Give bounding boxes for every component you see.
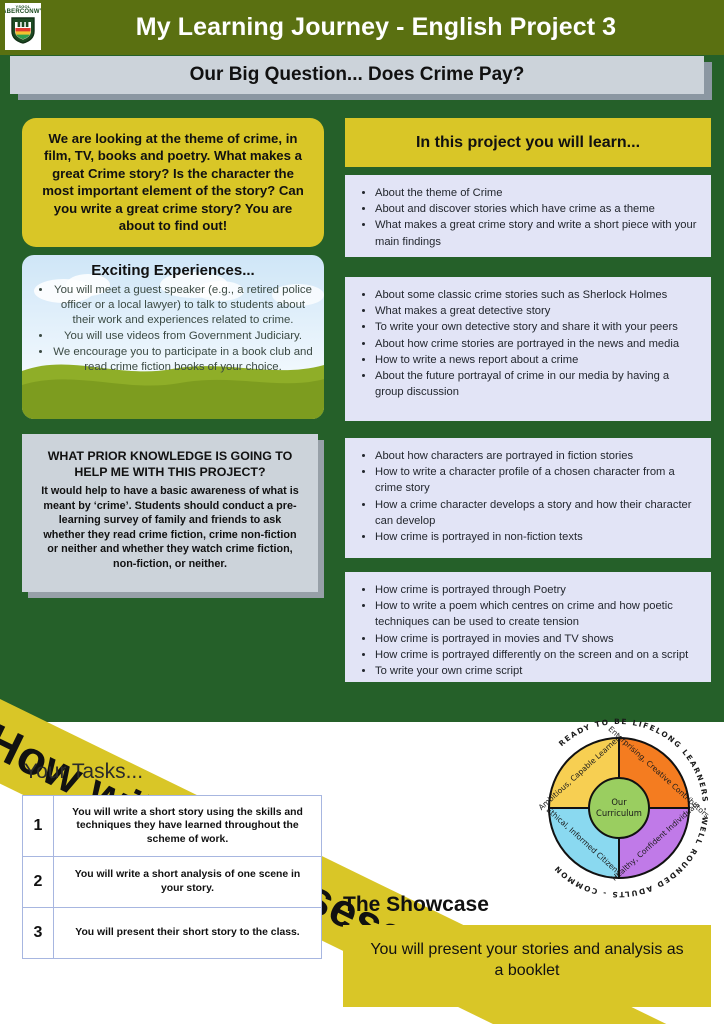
list-item: About and discover stories which have cr…	[375, 201, 699, 217]
page-title: My Learning Journey - English Project 3	[46, 0, 706, 55]
learning-objectives-list: About the theme of Crime About and disco…	[353, 185, 699, 250]
learning-objectives-list: About some classic crime stories such as…	[353, 287, 699, 401]
showcase-text: You will present your stories and analys…	[370, 941, 683, 979]
list-item: You will meet a guest speaker (e.g., a r…	[52, 283, 314, 328]
learning-objectives-group-1: About the theme of Crime About and disco…	[345, 175, 711, 257]
svg-text:Curriculum: Curriculum	[596, 808, 642, 818]
tasks-table: 1 You will write a short story using the…	[22, 795, 322, 959]
svg-text:Our: Our	[611, 797, 627, 807]
task-number: 1	[23, 796, 54, 857]
learning-objectives-list: About how characters are portrayed in fi…	[353, 448, 699, 545]
task-description: You will write a short story using the s…	[54, 796, 322, 857]
list-item: About the future portrayal of crime in o…	[375, 368, 699, 400]
exciting-experiences-list: You will meet a guest speaker (e.g., a r…	[32, 283, 314, 375]
showcase-card: You will present your stories and analys…	[343, 925, 711, 1007]
list-item: How a crime character develops a story a…	[375, 497, 699, 529]
list-item: How to write a poem which centres on cri…	[375, 598, 699, 630]
list-item: How to write a character profile of a ch…	[375, 464, 699, 496]
task-number: 3	[23, 908, 54, 959]
shield-crest-icon	[10, 16, 36, 44]
task-number: 2	[23, 857, 54, 908]
task-description: You will present their short story to th…	[54, 908, 322, 959]
tasks-heading: Your Tasks...	[24, 760, 143, 784]
school-logo: YSGOL ABERCONWY	[5, 3, 41, 50]
list-item: To write your own crime script	[375, 663, 699, 679]
learning-objectives-group-4: How crime is portrayed through Poetry Ho…	[345, 572, 711, 682]
list-item: How crime is portrayed through Poetry	[375, 582, 699, 598]
list-item: About some classic crime stories such as…	[375, 287, 699, 303]
list-item: How crime is portrayed in non-fiction te…	[375, 529, 699, 545]
list-item: How to write a news report about a crime	[375, 352, 699, 368]
learning-objectives-group-2: About some classic crime stories such as…	[345, 277, 711, 421]
learning-objectives-group-3: About how characters are portrayed in fi…	[345, 438, 711, 558]
table-row: 2 You will write a short analysis of one…	[23, 857, 322, 908]
learning-objectives-list: How crime is portrayed through Poetry Ho…	[353, 582, 699, 679]
learning-objectives-header-text: In this project you will learn...	[416, 134, 640, 152]
project-intro-card: We are looking at the theme of crime, in…	[22, 118, 324, 247]
project-intro-text: We are looking at the theme of crime, in…	[36, 130, 310, 235]
big-question-text: Our Big Question... Does Crime Pay?	[190, 64, 525, 86]
list-item: About how characters are portrayed in fi…	[375, 448, 699, 464]
list-item: About the theme of Crime	[375, 185, 699, 201]
list-item: You will use videos from Government Judi…	[52, 329, 314, 344]
learning-objectives-header: In this project you will learn...	[345, 118, 711, 167]
prior-knowledge-card: WHAT PRIOR KNOWLEDGE IS GOING TO HELP ME…	[22, 434, 318, 592]
list-item: How crime is portrayed differently on th…	[375, 647, 699, 663]
prior-knowledge-title: WHAT PRIOR KNOWLEDGE IS GOING TO HELP ME…	[38, 448, 302, 480]
table-row: 1 You will write a short story using the…	[23, 796, 322, 857]
list-item: What makes a great crime story and write…	[375, 217, 699, 249]
list-item: What makes a great detective story	[375, 303, 699, 319]
big-question-bar: Our Big Question... Does Crime Pay?	[10, 56, 704, 94]
learning-journey-poster: YSGOL ABERCONWY My Learning Journey - En…	[0, 0, 724, 1024]
exciting-experiences-title: Exciting Experiences...	[32, 262, 314, 279]
exciting-experiences-card: Exciting Experiences... You will meet a …	[22, 255, 324, 419]
list-item: How crime is portrayed in movies and TV …	[375, 631, 699, 647]
table-row: 3 You will present their short story to …	[23, 908, 322, 959]
prior-knowledge-body: It would help to have a basic awareness …	[38, 484, 302, 571]
list-item: To write your own detective story and sh…	[375, 319, 699, 335]
curriculum-wheel-diagram: READY TO BE LIFELONG LEARNERS - WELL ROU…	[524, 712, 714, 898]
list-item: We encourage you to participate in a boo…	[52, 345, 314, 375]
task-description: You will write a short analysis of one s…	[54, 857, 322, 908]
logo-text-aberconwy: ABERCONWY	[5, 9, 41, 15]
showcase-heading: The Showcase	[343, 893, 489, 917]
list-item: About how crime stories are portrayed in…	[375, 336, 699, 352]
